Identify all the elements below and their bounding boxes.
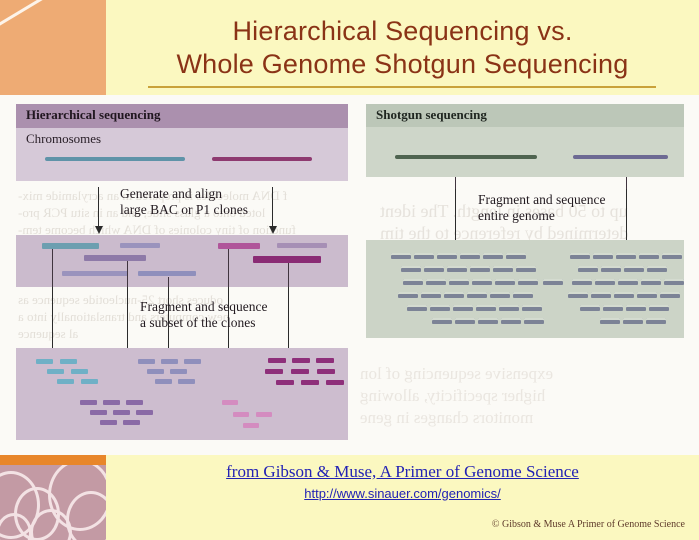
clone-bar-5 — [138, 271, 196, 276]
shotgun-fragment-block — [516, 266, 536, 272]
shotgun-header-label: Shotgun sequencing — [366, 104, 684, 123]
shotgun-fragment-block — [664, 279, 684, 285]
shotgun-fragment-block — [401, 266, 421, 272]
chromosome-bar-teal — [45, 157, 185, 161]
slide-canvas: Hierarchical Sequencing vs. Whole Genome… — [0, 0, 699, 540]
clone-bar-4 — [62, 271, 128, 276]
fragment-block — [256, 412, 272, 417]
shotgun-fragment-block — [626, 305, 646, 311]
top-left-accent-block — [0, 0, 106, 95]
shotgun-fragment-block — [595, 279, 615, 285]
fragment-block — [222, 400, 238, 405]
chromosomes-label: Chromosomes — [26, 131, 101, 147]
clone-bar-6 — [218, 243, 260, 249]
shotgun-fragment-block — [506, 253, 526, 259]
fragment-block — [136, 410, 153, 415]
clone-bar-1 — [42, 243, 99, 249]
fragment-block — [233, 412, 249, 417]
fragment-block — [80, 400, 97, 405]
shotgun-fragment-block — [522, 305, 542, 311]
clone-tick-3 — [168, 277, 169, 287]
shotgun-chromosome-band — [366, 127, 684, 177]
clone-tick-1 — [52, 249, 53, 287]
fragment-block — [81, 379, 98, 384]
shotgun-fragment-block — [444, 292, 464, 298]
shotgun-chromosome-bar-green — [395, 155, 537, 159]
ghost-text-8: higher specificity, allowing — [360, 387, 545, 404]
copyright-notice: © Gibson & Muse A Primer of Genome Scien… — [0, 519, 685, 530]
shotgun-tick-left — [455, 177, 456, 189]
clone-bar-7 — [277, 243, 327, 248]
shotgun-fragment-block — [624, 266, 644, 272]
shotgun-fragment-block — [449, 279, 469, 285]
shotgun-fragment-block — [641, 279, 661, 285]
fragment-block — [161, 359, 178, 364]
shotgun-fragment-block — [524, 318, 544, 324]
shotgun-chromosome-bar-purple — [573, 155, 668, 159]
step1-caption: Generate and align large BAC or P1 clone… — [120, 186, 248, 218]
shotgun-fragment-block — [424, 266, 444, 272]
chromosome-bar-magenta — [212, 157, 312, 161]
step2-arrow-1 — [52, 287, 53, 355]
shotgun-fragment-block — [499, 305, 519, 311]
shotgun-fragment-block — [580, 305, 600, 311]
shotgun-fragment-block — [591, 292, 611, 298]
shotgun-fragment-block — [623, 318, 643, 324]
shotgun-fragment-block — [403, 279, 423, 285]
shotgun-fragment-block — [447, 266, 467, 272]
fragment-block — [60, 359, 77, 364]
shotgun-fragment-block — [647, 266, 667, 272]
shotgun-fragment-block — [467, 292, 487, 298]
shotgun-fragment-block — [639, 253, 659, 259]
shotgun-panel-header: Shotgun sequencing — [366, 104, 684, 127]
fragment-block — [317, 369, 335, 374]
shotgun-fragment-block — [572, 279, 592, 285]
fragment-block — [147, 369, 164, 374]
shotgun-fragment-block — [513, 292, 533, 298]
clone-tick-5 — [288, 263, 289, 287]
title-line-1: Hierarchical Sequencing vs. — [232, 15, 572, 48]
fragment-block — [178, 379, 195, 384]
clone-tick-2 — [127, 261, 128, 287]
shotgun-fragment-block — [426, 279, 446, 285]
shotgun-fragment-block — [414, 253, 434, 259]
fragment-block — [291, 369, 309, 374]
title-underline — [148, 86, 656, 88]
shotgun-fragment-block — [478, 318, 498, 324]
shotgun-fragment-block — [483, 253, 503, 259]
shotgun-arrow-left — [455, 189, 456, 243]
fragment-block — [103, 400, 120, 405]
shotgun-fragment-block — [398, 292, 418, 298]
fragment-block — [292, 358, 310, 363]
fragment-block — [243, 423, 259, 428]
fragment-block — [184, 359, 201, 364]
shotgun-fragment-block — [407, 305, 427, 311]
title-line-2: Whole Genome Shotgun Sequencing — [176, 48, 628, 81]
shotgun-fragment-block — [570, 253, 590, 259]
fragment-block — [113, 410, 130, 415]
shotgun-fragment-block — [476, 305, 496, 311]
shotgun-fragment-block — [646, 318, 666, 324]
fragment-block — [316, 358, 334, 363]
shotgun-fragment-block — [600, 318, 620, 324]
shotgun-fragment-block — [593, 253, 613, 259]
shotgun-fragment-block — [421, 292, 441, 298]
shotgun-tick-right — [626, 177, 627, 189]
clone-bar-2 — [120, 243, 160, 248]
slide-title: Hierarchical Sequencing vs. Whole Genome… — [106, 2, 699, 93]
fragment-block — [301, 380, 319, 385]
shotgun-fragment-block — [472, 279, 492, 285]
fragment-block — [100, 420, 117, 425]
fragment-block — [326, 380, 344, 385]
shotgun-fragment-block — [616, 253, 636, 259]
hierarchical-panel-header: Hierarchical sequencing — [16, 104, 348, 128]
shotgun-fragment-block — [437, 253, 457, 259]
shotgun-fragment-block — [649, 305, 669, 311]
fragment-block — [265, 369, 283, 374]
shotgun-fragment-block — [568, 292, 588, 298]
fragment-block — [36, 359, 53, 364]
shotgun-arrow-right — [626, 189, 627, 243]
fragment-block — [155, 379, 172, 384]
shotgun-caption: Fragment and sequence entire genome — [478, 192, 605, 224]
fragment-block — [123, 420, 140, 425]
shotgun-fragment-block — [660, 292, 680, 298]
shotgun-fragment-block — [490, 292, 510, 298]
hierarchical-header-label: Hierarchical sequencing — [16, 104, 348, 123]
fragment-block — [71, 369, 88, 374]
fragment-block — [276, 380, 294, 385]
step2-caption: Fragment and sequence a subset of the cl… — [140, 299, 267, 331]
fragment-block — [170, 369, 187, 374]
shotgun-fragment-block — [543, 279, 563, 285]
diagonal-accent-line — [0, 0, 106, 29]
shotgun-fragment-block — [470, 266, 490, 272]
shotgun-fragment-block — [601, 266, 621, 272]
figure-scan: f DNA molecules is prepared in an acryla… — [0, 95, 699, 455]
source-credit-link[interactable]: from Gibson & Muse, A Primer of Genome S… — [106, 462, 699, 482]
shotgun-fragment-block — [460, 253, 480, 259]
shotgun-fragment-block — [618, 279, 638, 285]
shotgun-fragment-block — [432, 318, 452, 324]
shotgun-fragment-block — [501, 318, 521, 324]
fragment-block — [47, 369, 64, 374]
shotgun-fragment-block — [391, 253, 411, 259]
shotgun-fragment-block — [603, 305, 623, 311]
ghost-text-9: monitors changes in gene — [360, 409, 533, 426]
shotgun-fragment-block — [637, 292, 657, 298]
shotgun-fragment-block — [614, 292, 634, 298]
shotgun-fragment-block — [518, 279, 538, 285]
shotgun-fragment-block — [495, 279, 515, 285]
shotgun-fragment-block — [453, 305, 473, 311]
step1-arrow-right — [272, 187, 273, 227]
fragment-block — [268, 358, 286, 363]
shotgun-fragment-block — [662, 253, 682, 259]
shotgun-fragment-block — [578, 266, 598, 272]
fragment-block — [57, 379, 74, 384]
ghost-text-7: expensive sequencing of lon — [360, 365, 553, 382]
shotgun-fragment-block — [455, 318, 475, 324]
shotgun-fragment-block — [430, 305, 450, 311]
ghost-text-6: al sequence — [18, 325, 78, 342]
fragment-block — [90, 410, 107, 415]
clone-bar-8 — [253, 256, 321, 263]
fragment-block — [126, 400, 143, 405]
clone-tick-4 — [228, 249, 229, 287]
step2-arrow-5 — [288, 287, 289, 355]
shotgun-fragment-block — [493, 266, 513, 272]
fragment-block — [138, 359, 155, 364]
clone-bar-3 — [84, 255, 146, 261]
step1-arrow-left — [98, 187, 99, 227]
source-url-link[interactable]: http://www.sinauer.com/genomics/ — [106, 486, 699, 501]
